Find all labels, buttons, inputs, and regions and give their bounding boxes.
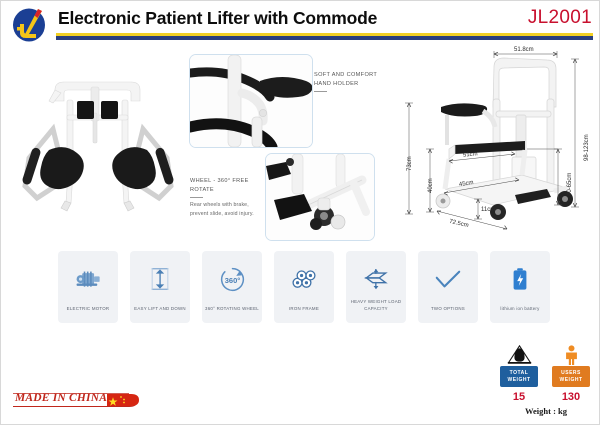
page-title: Electronic Patient Lifter with Commode [58, 8, 377, 29]
dim-ground-clearance: 11cm [481, 207, 495, 213]
dim-seat-height: 40-65cm [567, 173, 573, 196]
badge-line-1: TOTAL [510, 370, 529, 377]
feature-card-easy-lift[interactable]: EASY LIFT AND DOWN [130, 251, 190, 323]
up-down-arrow-icon [130, 264, 190, 294]
total-weight-value: 15 [498, 391, 540, 403]
feature-card-iron-frame[interactable]: IRON FRAME [274, 251, 334, 323]
rotate-360-icon: 360° [202, 264, 262, 294]
callout-divider [190, 197, 203, 198]
model-number: JL2001 [528, 7, 592, 29]
users-weight-badge: USERS WEIGHT [552, 366, 590, 387]
callout-wheel-subtitle: Rear wheels with brake, prevent slide, a… [190, 201, 264, 218]
detail-photo-wheel [265, 153, 375, 241]
weight-scale-icon [498, 341, 540, 365]
made-in-china-text: MADE IN CHINA [15, 392, 107, 404]
checkmark-icon [418, 264, 478, 294]
jl-company-logo [9, 5, 53, 45]
feature-card-battery[interactable]: lithium ion battery [490, 251, 550, 323]
product-spec-sheet: Electronic Patient Lifter with Commode J… [1, 1, 599, 424]
motor-icon [58, 264, 118, 294]
detail-photo-hand-holder [189, 54, 313, 148]
china-flag-icon [107, 394, 139, 406]
svg-text:360°: 360° [224, 275, 240, 284]
feature-label: HEAVY WEIGHT LOAD CAPACITY [349, 299, 403, 312]
feature-label: lithium ion battery [493, 306, 547, 312]
weight-unit-label: Weight : kg [498, 406, 594, 416]
badge-line-2: WEIGHT [560, 377, 583, 384]
steel-tubes-icon [274, 264, 334, 294]
callout-divider [314, 91, 327, 92]
feature-card-load-capacity[interactable]: HEAVY WEIGHT LOAD CAPACITY [346, 251, 406, 323]
feature-label: EASY LIFT AND DOWN [133, 306, 187, 312]
total-weight-badge: TOTAL WEIGHT [500, 366, 538, 387]
dimension-drawing [397, 49, 597, 241]
made-in-china-badge: MADE IN CHINA [11, 390, 141, 410]
header-rule-navy [56, 36, 593, 40]
person-icon [550, 341, 592, 365]
dim-overall-height: 73cm [407, 156, 413, 171]
callout-hand-holder: SOFT AND COMFORT HAND HOLDER [314, 71, 394, 95]
feature-card-electric-motor[interactable]: ELECTRIC MOTOR [58, 251, 118, 323]
dimension-diagram: 51.8cm 98-123cm 40-65cm 73cm 40cm 51cm 4… [397, 49, 597, 241]
callout-wheel: WHEEL - 360° FREE ROTATE Rear wheels wit… [190, 177, 264, 218]
dim-base-height: 40cm [428, 178, 434, 193]
feature-label: IRON FRAME [277, 306, 331, 312]
weight-total: TOTAL WEIGHT 15 [498, 341, 540, 403]
feature-label: ELECTRIC MOTOR [61, 306, 115, 312]
feature-card-two-options[interactable]: TWO OPTIONS [418, 251, 478, 323]
users-weight-value: 130 [550, 391, 592, 403]
patient-lifter-front-photo [9, 53, 187, 238]
callout-wheel-title: WHEEL - 360° FREE ROTATE [190, 177, 264, 194]
badge-line-1: USERS [561, 370, 581, 377]
feature-card-rotating-wheel[interactable]: 360° 360° ROTATING WHEEL [202, 251, 262, 323]
load-capacity-icon [346, 264, 406, 294]
dim-total-height: 98-123cm [584, 134, 590, 161]
callout-hand-holder-title: SOFT AND COMFORT HAND HOLDER [314, 71, 394, 88]
battery-icon [490, 264, 550, 294]
weight-users: USERS WEIGHT 130 [550, 341, 592, 403]
feature-label: TWO OPTIONS [421, 306, 475, 312]
header: Electronic Patient Lifter with Commode J… [1, 1, 600, 47]
weight-badges: TOTAL WEIGHT 15 USERS WEIGHT 130 Weight … [498, 341, 594, 423]
feature-label: 360° ROTATING WHEEL [205, 306, 259, 312]
feature-cards: ELECTRIC MOTOR EASY LIFT AND DOWN [58, 251, 550, 323]
dim-top-width: 51.8cm [514, 47, 534, 53]
badge-line-2: WEIGHT [508, 377, 531, 384]
